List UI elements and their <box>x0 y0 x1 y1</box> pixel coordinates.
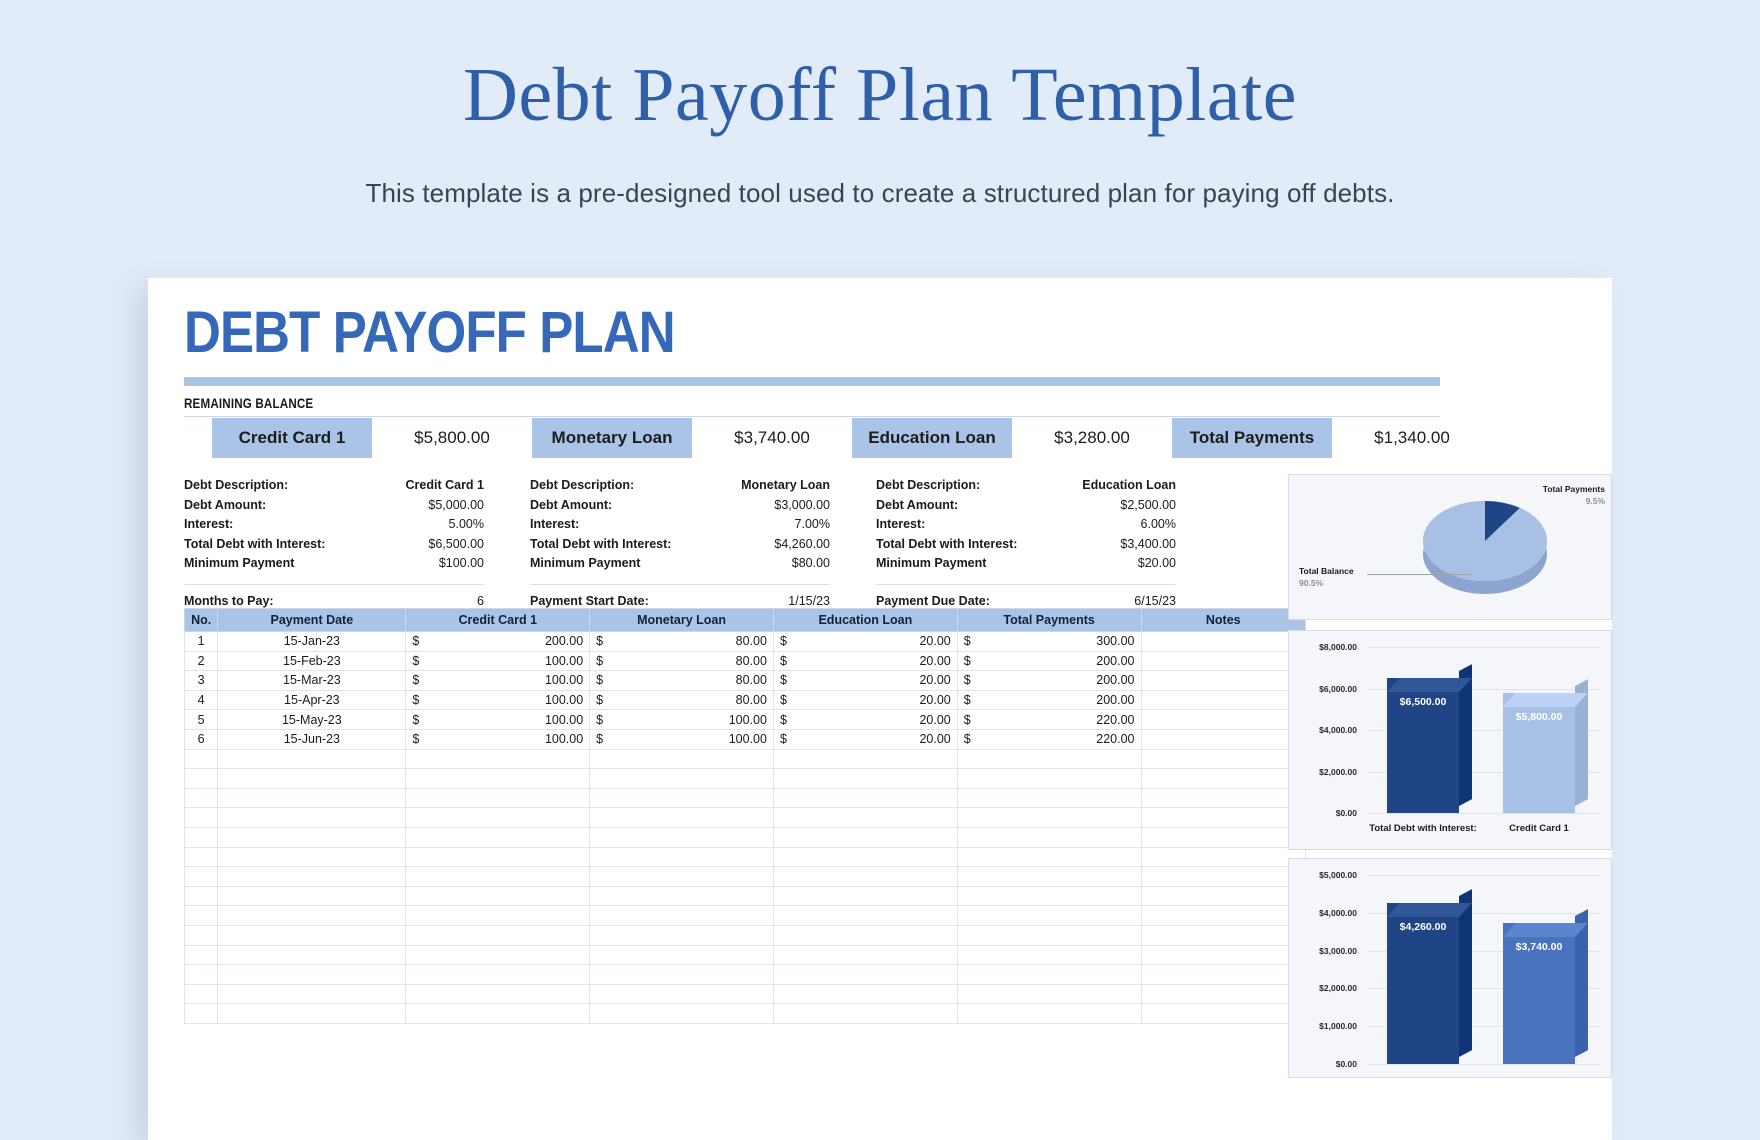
cell-empty[interactable] <box>218 769 406 789</box>
cell-payment-date: 15-May-23 <box>218 710 406 730</box>
detail-key: Debt Description: <box>876 476 980 496</box>
detail-value: Monetary Loan <box>741 476 830 496</box>
amount-value: 80.00 <box>596 634 767 648</box>
cell-empty[interactable] <box>218 1004 406 1024</box>
cell-empty[interactable] <box>406 867 590 887</box>
amount-value: 20.00 <box>780 673 951 687</box>
detail-key: Debt Description: <box>184 476 288 496</box>
table-row-empty[interactable] <box>185 808 1306 828</box>
y-axis-tick-label: $6,000.00 <box>1283 684 1357 694</box>
amount-value: 100.00 <box>412 693 583 707</box>
table-row-empty[interactable] <box>185 867 1306 887</box>
cell-payment-date: 15-Jun-23 <box>218 729 406 749</box>
debt-detail-block-2: Debt Description:Monetary LoanDebt Amoun… <box>530 476 830 574</box>
cell-empty[interactable] <box>1141 1004 1305 1024</box>
cell-empty[interactable] <box>185 984 218 1004</box>
amount-value: 100.00 <box>412 673 583 687</box>
cell-no: 5 <box>185 710 218 730</box>
cell-empty[interactable] <box>406 886 590 906</box>
cell-empty[interactable] <box>218 749 406 769</box>
cell-empty[interactable] <box>957 867 1141 887</box>
category-label-2: Credit Card 1 <box>1473 823 1605 834</box>
detail-row: Interest:7.00% <box>530 515 830 535</box>
y-axis-tick-label: $2,000.00 <box>1283 983 1357 993</box>
detail-key: Interest: <box>530 515 579 535</box>
currency-symbol: $ <box>780 713 787 727</box>
cell-empty[interactable] <box>773 867 957 887</box>
cell-empty[interactable] <box>773 847 957 867</box>
detail-row: Minimum Payment$20.00 <box>876 554 1176 574</box>
y-axis-tick-label: $0.00 <box>1283 808 1357 818</box>
currency-symbol: $ <box>780 673 787 687</box>
detail-row: Debt Description:Monetary Loan <box>530 476 830 496</box>
cell-empty[interactable] <box>185 965 218 985</box>
cell-empty[interactable] <box>590 925 774 945</box>
detail-row: Minimum Payment$80.00 <box>530 554 830 574</box>
detail-row: Total Debt with Interest:$4,260.00 <box>530 535 830 555</box>
cell-empty[interactable] <box>218 965 406 985</box>
document-heading: DEBT PAYOFF PLAN <box>184 304 675 362</box>
detail-row: Debt Amount:$2,500.00 <box>876 496 1176 516</box>
cell-empty[interactable] <box>185 886 218 906</box>
cell-empty[interactable] <box>773 906 957 926</box>
detail-row: Debt Description:Education Loan <box>876 476 1176 496</box>
cell-empty[interactable] <box>773 925 957 945</box>
detail-row: Debt Amount:$5,000.00 <box>184 496 484 516</box>
table-row-empty[interactable] <box>185 984 1306 1004</box>
column-header-3: Credit Card 1 <box>406 609 590 632</box>
detail-value: Education Loan <box>1082 476 1176 496</box>
cell-empty[interactable] <box>957 788 1141 808</box>
cell-empty[interactable] <box>957 906 1141 926</box>
cell-empty[interactable] <box>773 945 957 965</box>
cell-amount-3: $20.00 <box>773 651 957 671</box>
cell-empty[interactable] <box>590 945 774 965</box>
column-header-6: Total Payments <box>957 609 1141 632</box>
cell-empty[interactable] <box>1141 847 1305 867</box>
cell-empty[interactable] <box>1141 749 1305 769</box>
cell-amount-2: $80.00 <box>590 690 774 710</box>
currency-symbol: $ <box>412 654 419 668</box>
cell-empty[interactable] <box>218 906 406 926</box>
cell-amount-3: $20.00 <box>773 632 957 652</box>
cell-empty[interactable] <box>957 769 1141 789</box>
y-axis-tick-label: $1,000.00 <box>1283 1021 1357 1031</box>
amount-value: 220.00 <box>964 713 1135 727</box>
amount-value: 200.00 <box>412 634 583 648</box>
amount-value: 80.00 <box>596 693 767 707</box>
cell-no: 6 <box>185 729 218 749</box>
cell-amount-4: $220.00 <box>957 710 1141 730</box>
currency-symbol: $ <box>964 732 971 746</box>
table-row-empty[interactable] <box>185 925 1306 945</box>
y-axis-tick-label: $2,000.00 <box>1283 767 1357 777</box>
detail-separator <box>184 584 484 585</box>
gridline <box>1367 875 1601 876</box>
cell-empty[interactable] <box>218 808 406 828</box>
summary-label-2: Monetary Loan <box>532 418 692 458</box>
currency-symbol: $ <box>596 732 603 746</box>
cell-amount-2: $100.00 <box>590 729 774 749</box>
detail-key: Minimum Payment <box>184 554 294 574</box>
bar-data-label: $6,500.00 <box>1387 696 1459 708</box>
bar-data-label: $3,740.00 <box>1503 941 1575 953</box>
cell-empty[interactable] <box>406 769 590 789</box>
detail-key: Debt Amount: <box>184 496 266 516</box>
bar-data-label: $5,800.00 <box>1503 711 1575 723</box>
column-header-2: Payment Date <box>218 609 406 632</box>
cell-empty[interactable] <box>957 886 1141 906</box>
cell-no: 2 <box>185 651 218 671</box>
detail-row: Debt Amount:$3,000.00 <box>530 496 830 516</box>
detail-key: Debt Description: <box>530 476 634 496</box>
currency-symbol: $ <box>412 732 419 746</box>
section-rule <box>184 416 1440 417</box>
table-row[interactable]: 415-Apr-23$100.00$80.00$20.00$200.00 <box>185 690 1306 710</box>
y-axis-tick-label: $0.00 <box>1283 1059 1357 1069</box>
cell-empty[interactable] <box>406 1004 590 1024</box>
cell-payment-date: 15-Jan-23 <box>218 632 406 652</box>
currency-symbol: $ <box>596 713 603 727</box>
table-row-empty[interactable] <box>185 769 1306 789</box>
cell-amount-4: $200.00 <box>957 651 1141 671</box>
detail-value: 5.00% <box>449 515 484 535</box>
cell-empty[interactable] <box>406 749 590 769</box>
table-row-empty[interactable] <box>185 1004 1306 1024</box>
cell-empty[interactable] <box>218 945 406 965</box>
currency-symbol: $ <box>412 713 419 727</box>
cell-notes[interactable] <box>1141 710 1305 730</box>
table-row-empty[interactable] <box>185 847 1306 867</box>
amount-value: 100.00 <box>596 732 767 746</box>
cell-empty[interactable] <box>185 769 218 789</box>
gridline <box>1367 647 1601 648</box>
cell-empty[interactable] <box>406 965 590 985</box>
detail-row: Total Debt with Interest:$6,500.00 <box>184 535 484 555</box>
y-axis-tick-label: $3,000.00 <box>1283 946 1357 956</box>
cell-empty[interactable] <box>590 827 774 847</box>
cell-amount-3: $20.00 <box>773 671 957 691</box>
summary-label-1: Credit Card 1 <box>212 418 372 458</box>
credit-card-bar-chart: $8,000.00$6,000.00$4,000.00$2,000.00$0.0… <box>1288 630 1612 850</box>
cell-amount-1: $100.00 <box>406 651 590 671</box>
pie-label-total-balance: Total Balance <box>1299 566 1354 576</box>
amount-value: 200.00 <box>964 673 1135 687</box>
cell-empty[interactable] <box>1141 906 1305 926</box>
cell-payment-date: 15-Apr-23 <box>218 690 406 710</box>
table-row-empty[interactable] <box>185 945 1306 965</box>
currency-symbol: $ <box>412 693 419 707</box>
table-row[interactable]: 515-May-23$100.00$100.00$20.00$220.00 <box>185 710 1306 730</box>
detail-separator <box>876 584 1176 585</box>
cell-empty[interactable] <box>1141 945 1305 965</box>
cell-empty[interactable] <box>185 827 218 847</box>
cell-empty[interactable] <box>406 984 590 1004</box>
cell-empty[interactable] <box>773 749 957 769</box>
bar-top <box>1387 678 1472 692</box>
cell-amount-3: $20.00 <box>773 729 957 749</box>
currency-symbol: $ <box>596 634 603 648</box>
cell-empty[interactable] <box>1141 925 1305 945</box>
summary-value-2: $3,740.00 <box>692 418 852 458</box>
cell-empty[interactable] <box>406 847 590 867</box>
cell-empty[interactable] <box>1141 867 1305 887</box>
debt-detail-block-3: Debt Description:Education LoanDebt Amou… <box>876 476 1176 574</box>
debt-detail-block-1: Debt Description:Credit Card 1Debt Amoun… <box>184 476 484 574</box>
detail-row: Debt Description:Credit Card 1 <box>184 476 484 496</box>
cell-amount-2: $100.00 <box>590 710 774 730</box>
cell-empty[interactable] <box>957 827 1141 847</box>
heading-divider-bar <box>184 377 1440 386</box>
cell-empty[interactable] <box>957 749 1141 769</box>
detail-key: Total Debt with Interest: <box>876 535 1017 555</box>
detail-key: Minimum Payment <box>876 554 986 574</box>
cell-empty[interactable] <box>218 886 406 906</box>
cell-empty[interactable] <box>590 1004 774 1024</box>
gridline <box>1367 813 1601 814</box>
table-row[interactable]: 115-Jan-23$200.00$80.00$20.00$300.00 <box>185 632 1306 652</box>
section-label-remaining-balance: REMAINING BALANCE <box>184 396 313 411</box>
cell-empty[interactable] <box>406 945 590 965</box>
cell-notes[interactable] <box>1141 729 1305 749</box>
cell-empty[interactable] <box>1141 886 1305 906</box>
currency-symbol: $ <box>964 634 971 648</box>
amount-value: 20.00 <box>780 693 951 707</box>
currency-symbol: $ <box>780 654 787 668</box>
cell-empty[interactable] <box>773 808 957 828</box>
cell-empty[interactable] <box>590 808 774 828</box>
detail-row: Interest:5.00% <box>184 515 484 535</box>
currency-symbol: $ <box>780 732 787 746</box>
table-row-empty[interactable] <box>185 788 1306 808</box>
cell-empty[interactable] <box>185 808 218 828</box>
cell-empty[interactable] <box>1141 984 1305 1004</box>
amount-value: 20.00 <box>780 634 951 648</box>
cell-empty[interactable] <box>185 1004 218 1024</box>
bar-top <box>1503 693 1588 707</box>
payment-schedule-table: No.Payment DateCredit Card 1Monetary Loa… <box>184 608 1306 1024</box>
amount-value: 200.00 <box>964 693 1135 707</box>
cell-empty[interactable] <box>406 788 590 808</box>
currency-symbol: $ <box>596 673 603 687</box>
detail-key: Debt Amount: <box>876 496 958 516</box>
summary-label-4: Total Payments <box>1172 418 1332 458</box>
cell-empty[interactable] <box>218 984 406 1004</box>
pie-percent-total-balance: 90.5% <box>1299 578 1323 588</box>
amount-value: 80.00 <box>596 654 767 668</box>
y-axis-tick-label: $4,000.00 <box>1283 908 1357 918</box>
detail-value: $4,260.00 <box>774 535 830 555</box>
y-axis-tick-label: $8,000.00 <box>1283 642 1357 652</box>
currency-symbol: $ <box>412 673 419 687</box>
cell-amount-1: $100.00 <box>406 729 590 749</box>
table-row-empty[interactable] <box>185 749 1306 769</box>
cell-empty[interactable] <box>773 788 957 808</box>
table-row[interactable]: 215-Feb-23$100.00$80.00$20.00$200.00 <box>185 651 1306 671</box>
pie-leader-line-1 <box>1367 574 1471 575</box>
cell-empty[interactable] <box>590 984 774 1004</box>
cell-empty[interactable] <box>218 847 406 867</box>
detail-row: Minimum Payment$100.00 <box>184 554 484 574</box>
table-row-empty[interactable] <box>185 827 1306 847</box>
cell-empty[interactable] <box>773 1004 957 1024</box>
page-subtitle: This template is a pre-designed tool use… <box>0 178 1760 209</box>
amount-value: 20.00 <box>780 713 951 727</box>
y-axis-tick-label: $5,000.00 <box>1283 870 1357 880</box>
cell-amount-3: $20.00 <box>773 690 957 710</box>
cell-empty[interactable] <box>1141 788 1305 808</box>
cell-empty[interactable] <box>590 769 774 789</box>
cell-notes[interactable] <box>1141 690 1305 710</box>
cell-empty[interactable] <box>590 847 774 867</box>
cell-empty[interactable] <box>406 808 590 828</box>
cell-payment-date: 15-Feb-23 <box>218 651 406 671</box>
detail-key: Interest: <box>184 515 233 535</box>
detail-value: $2,500.00 <box>1120 496 1176 516</box>
cell-amount-1: $100.00 <box>406 690 590 710</box>
cell-empty[interactable] <box>590 749 774 769</box>
detail-key: Debt Amount: <box>530 496 612 516</box>
cell-empty[interactable] <box>773 886 957 906</box>
cell-empty[interactable] <box>957 984 1141 1004</box>
cell-empty[interactable] <box>957 945 1141 965</box>
cell-empty[interactable] <box>1141 965 1305 985</box>
cell-no: 1 <box>185 632 218 652</box>
pie-label-total-payments: Total Payments <box>1543 484 1605 494</box>
detail-value: $5,000.00 <box>428 496 484 516</box>
summary-value-1: $5,800.00 <box>372 418 532 458</box>
cell-empty[interactable] <box>773 769 957 789</box>
cell-amount-2: $80.00 <box>590 632 774 652</box>
currency-symbol: $ <box>596 693 603 707</box>
detail-value: $3,000.00 <box>774 496 830 516</box>
cell-empty[interactable] <box>773 965 957 985</box>
detail-row: Interest:6.00% <box>876 515 1176 535</box>
amount-value: 300.00 <box>964 634 1135 648</box>
cell-empty[interactable] <box>185 925 218 945</box>
detail-value: $6,500.00 <box>428 535 484 555</box>
cell-empty[interactable] <box>406 827 590 847</box>
cell-empty[interactable] <box>185 788 218 808</box>
column-header-7: Notes <box>1141 609 1305 632</box>
pie-graphic <box>1289 475 1611 619</box>
detail-separator <box>530 584 830 585</box>
cell-empty[interactable] <box>218 867 406 887</box>
detail-value: Credit Card 1 <box>406 476 485 496</box>
cell-empty[interactable] <box>1141 808 1305 828</box>
cell-payment-date: 15-Mar-23 <box>218 671 406 691</box>
cell-empty[interactable] <box>773 827 957 847</box>
cell-empty[interactable] <box>957 965 1141 985</box>
cell-empty[interactable] <box>185 945 218 965</box>
amount-value: 80.00 <box>596 673 767 687</box>
page-title: Debt Payoff Plan Template <box>0 52 1760 139</box>
column-header-4: Monetary Loan <box>590 609 774 632</box>
cell-empty[interactable] <box>218 925 406 945</box>
detail-value: $80.00 <box>792 554 830 574</box>
amount-value: 20.00 <box>780 654 951 668</box>
cell-amount-4: $200.00 <box>957 690 1141 710</box>
detail-value: 6.00% <box>1141 515 1176 535</box>
cell-amount-4: $300.00 <box>957 632 1141 652</box>
cell-amount-1: $100.00 <box>406 710 590 730</box>
cell-amount-1: $200.00 <box>406 632 590 652</box>
cell-empty[interactable] <box>185 906 218 926</box>
cell-empty[interactable] <box>185 847 218 867</box>
cell-empty[interactable] <box>590 867 774 887</box>
cell-empty[interactable] <box>1141 827 1305 847</box>
cell-empty[interactable] <box>773 984 957 1004</box>
detail-row: Total Debt with Interest:$3,400.00 <box>876 535 1176 555</box>
table-row[interactable]: 615-Jun-23$100.00$100.00$20.00$220.00 <box>185 729 1306 749</box>
detail-key: Total Debt with Interest: <box>184 535 325 555</box>
cell-empty[interactable] <box>1141 769 1305 789</box>
cell-empty[interactable] <box>590 906 774 926</box>
cell-empty[interactable] <box>957 1004 1141 1024</box>
cell-amount-4: $220.00 <box>957 729 1141 749</box>
currency-symbol: $ <box>412 634 419 648</box>
pie-percent-total-payments: 9.5% <box>1586 496 1605 506</box>
cell-empty[interactable] <box>957 925 1141 945</box>
summary-value-4: $1,340.00 <box>1332 418 1492 458</box>
amount-value: 100.00 <box>412 654 583 668</box>
cell-empty[interactable] <box>218 827 406 847</box>
cell-empty[interactable] <box>957 808 1141 828</box>
column-header-5: Education Loan <box>773 609 957 632</box>
bar-top <box>1503 923 1588 937</box>
cell-empty[interactable] <box>590 965 774 985</box>
cell-empty[interactable] <box>406 906 590 926</box>
table-row[interactable]: 315-Mar-23$100.00$80.00$20.00$200.00 <box>185 671 1306 691</box>
bar-top <box>1387 903 1472 917</box>
cell-empty[interactable] <box>185 749 218 769</box>
cell-no: 3 <box>185 671 218 691</box>
cell-notes[interactable] <box>1141 632 1305 652</box>
bar-data-label: $4,260.00 <box>1387 921 1459 933</box>
cell-empty[interactable] <box>185 867 218 887</box>
cell-amount-2: $80.00 <box>590 651 774 671</box>
remaining-balance-summary: Credit Card 1$5,800.00Monetary Loan$3,74… <box>212 418 1492 458</box>
cell-empty[interactable] <box>590 788 774 808</box>
document-card: DEBT PAYOFF PLAN REMAINING BALANCE Credi… <box>148 278 1612 1140</box>
amount-value: 100.00 <box>596 713 767 727</box>
cell-empty[interactable] <box>218 788 406 808</box>
cell-amount-4: $200.00 <box>957 671 1141 691</box>
balance-pie-chart: Total Balance90.5%Total Payments9.5% <box>1288 474 1612 620</box>
schedule-header-row: No.Payment DateCredit Card 1Monetary Loa… <box>185 609 1306 632</box>
cell-notes[interactable] <box>1141 671 1305 691</box>
cell-notes[interactable] <box>1141 651 1305 671</box>
cell-empty[interactable] <box>957 847 1141 867</box>
amount-value: 220.00 <box>964 732 1135 746</box>
table-row-empty[interactable] <box>185 906 1306 926</box>
detail-key: Minimum Payment <box>530 554 640 574</box>
table-row-empty[interactable] <box>185 886 1306 906</box>
table-row-empty[interactable] <box>185 965 1306 985</box>
summary-label-3: Education Loan <box>852 418 1012 458</box>
category-label-1: Total Debt with Interest: <box>1357 823 1489 834</box>
amount-value: 100.00 <box>412 713 583 727</box>
cell-empty[interactable] <box>590 886 774 906</box>
detail-value: $20.00 <box>1138 554 1176 574</box>
monetary-loan-bar-chart: $5,000.00$4,000.00$3,000.00$2,000.00$1,0… <box>1288 858 1612 1078</box>
cell-empty[interactable] <box>406 925 590 945</box>
summary-value-3: $3,280.00 <box>1012 418 1172 458</box>
detail-value: 7.00% <box>795 515 830 535</box>
amount-value: 100.00 <box>412 732 583 746</box>
detail-value: $3,400.00 <box>1120 535 1176 555</box>
currency-symbol: $ <box>964 713 971 727</box>
